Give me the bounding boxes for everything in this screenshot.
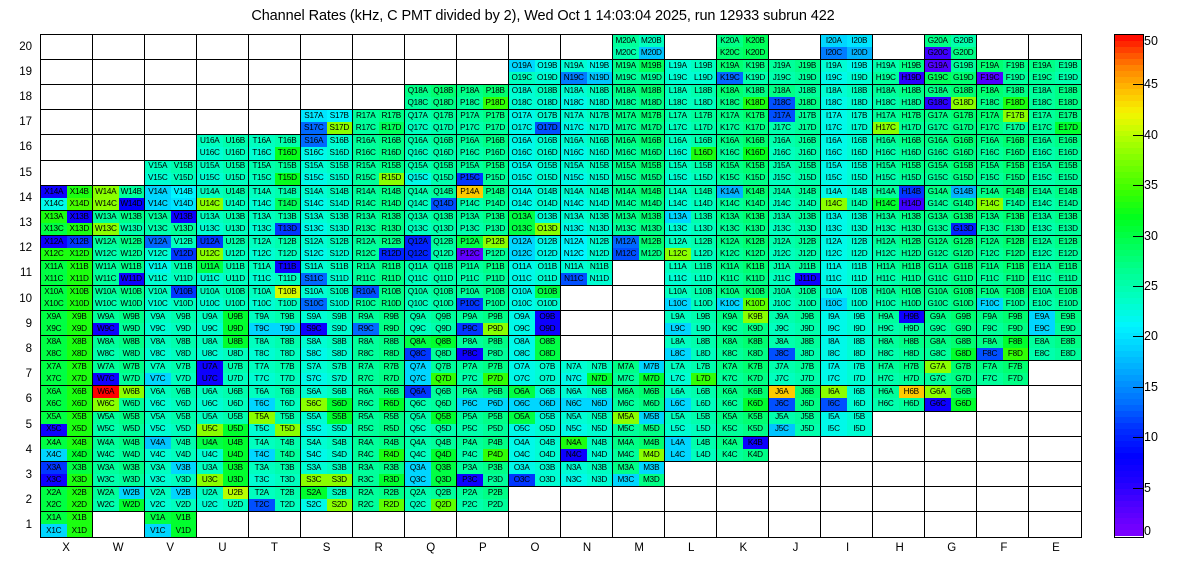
channel-R11D[interactable]: R11D <box>379 273 405 285</box>
heatmap-cell[interactable]: I16AI16BI16CI16D <box>821 135 873 160</box>
channel-O16C[interactable]: O16C <box>509 147 535 159</box>
channel-V6D[interactable]: V6D <box>171 398 197 410</box>
heatmap-cell[interactable]: J5AJ5BJ5CJ5D <box>769 412 821 437</box>
channel-J14D[interactable]: J14D <box>795 198 821 210</box>
heatmap-cell[interactable]: V11AV11BV11CV11D <box>145 261 197 286</box>
channel-N18B[interactable]: N18B <box>587 85 613 97</box>
channel-O9B[interactable]: O9B <box>535 311 561 323</box>
channel-M18D[interactable]: M18D <box>639 97 665 109</box>
heatmap-cell[interactable]: H13AH13BH13CH13D <box>873 211 925 236</box>
heatmap-cell[interactable]: Q10AQ10BQ10CQ10D <box>405 286 457 311</box>
channel-X10D[interactable]: X10D <box>67 298 93 310</box>
channel-M6C[interactable]: M6C <box>613 398 639 410</box>
channel-L14C[interactable]: L14C <box>665 198 691 210</box>
channel-H10C[interactable]: H10C <box>873 298 899 310</box>
channel-J9B[interactable]: J9B <box>795 311 821 323</box>
channel-W9A[interactable]: W9A <box>93 311 119 323</box>
channel-E19B[interactable]: E19B <box>1055 60 1081 72</box>
channel-R5B[interactable]: R5B <box>379 412 405 424</box>
channel-G8C[interactable]: G8C <box>925 348 951 360</box>
heatmap-cell[interactable]: Q18AQ18BQ18CQ18D <box>405 85 457 110</box>
heatmap-cell[interactable]: R16AR16BR16CR16D <box>353 135 405 160</box>
channel-Q17D[interactable]: Q17D <box>431 122 457 134</box>
channel-Q10B[interactable]: Q10B <box>431 286 457 298</box>
channel-F18C[interactable]: F18C <box>977 97 1003 109</box>
channel-R7C[interactable]: R7C <box>353 373 379 385</box>
channel-F13C[interactable]: F13C <box>977 223 1003 235</box>
channel-Q9D[interactable]: Q9D <box>431 323 457 335</box>
channel-T16A[interactable]: T16A <box>249 135 275 147</box>
channel-W14B[interactable]: W14B <box>119 186 145 198</box>
channel-R10C[interactable]: R10C <box>353 298 379 310</box>
channel-S5B[interactable]: S5B <box>327 412 353 424</box>
channel-H6D[interactable]: H6D <box>899 398 925 410</box>
channel-Q12C[interactable]: Q12C <box>405 248 431 260</box>
channel-R17D[interactable]: R17D <box>379 122 405 134</box>
heatmap-cell[interactable]: F18AF18BF18CF18D <box>977 85 1029 110</box>
heatmap-cell[interactable]: J11AJ11BJ11CJ11D <box>769 261 821 286</box>
heatmap-cell[interactable]: P12AP12BP12CP12D <box>457 236 509 261</box>
channel-S5C[interactable]: S5C <box>301 424 327 436</box>
heatmap-cell[interactable]: I6AI6BI6CI6D <box>821 386 873 411</box>
channel-T13D[interactable]: T13D <box>275 223 301 235</box>
channel-R10B[interactable]: R10B <box>379 286 405 298</box>
channel-Q12B[interactable]: Q12B <box>431 236 457 248</box>
channel-J12D[interactable]: J12D <box>795 248 821 260</box>
channel-G6C[interactable]: G6C <box>925 398 951 410</box>
channel-L4C[interactable]: L4C <box>665 449 691 461</box>
channel-H11C[interactable]: H11C <box>873 273 899 285</box>
channel-Q7C[interactable]: Q7C <box>405 373 431 385</box>
channel-S17D[interactable]: S17D <box>327 122 353 134</box>
channel-K16B[interactable]: K16B <box>743 135 769 147</box>
channel-F17D[interactable]: F17D <box>1003 122 1029 134</box>
channel-J15A[interactable]: J15A <box>769 161 795 173</box>
channel-W14D[interactable]: W14D <box>119 198 145 210</box>
channel-O12A[interactable]: O12A <box>509 236 535 248</box>
channel-P9B[interactable]: P9B <box>483 311 509 323</box>
heatmap-cell[interactable]: J9AJ9BJ9CJ9D <box>769 311 821 336</box>
channel-Q14A[interactable]: Q14A <box>405 186 431 198</box>
channel-Q11A[interactable]: Q11A <box>405 261 431 273</box>
channel-X6D[interactable]: X6D <box>67 398 93 410</box>
channel-U11C[interactable]: U11C <box>197 273 223 285</box>
heatmap-cell[interactable]: K17AK17BK17CK17D <box>717 110 769 135</box>
channel-S6C[interactable]: S6C <box>301 398 327 410</box>
heatmap-cell[interactable]: G13AG13BG13CG13D <box>925 211 977 236</box>
channel-T16B[interactable]: T16B <box>275 135 301 147</box>
channel-H19C[interactable]: H19C <box>873 72 899 84</box>
channel-O7D[interactable]: O7D <box>535 373 561 385</box>
channel-H6B[interactable]: H6B <box>899 386 925 398</box>
channel-T4C[interactable]: T4C <box>249 449 275 461</box>
channel-J6B[interactable]: J6B <box>795 386 821 398</box>
channel-L4A[interactable]: L4A <box>665 437 691 449</box>
channel-V11D[interactable]: V11D <box>171 273 197 285</box>
heatmap-cell[interactable]: M6AM6BM6CM6D <box>613 386 665 411</box>
channel-R4B[interactable]: R4B <box>379 437 405 449</box>
channel-J6A[interactable]: J6A <box>769 386 795 398</box>
channel-O14A[interactable]: O14A <box>509 186 535 198</box>
heatmap-cell[interactable]: R6AR6BR6CR6D <box>353 386 405 411</box>
channel-P14A[interactable]: P14A <box>457 186 483 198</box>
channel-L6A[interactable]: L6A <box>665 386 691 398</box>
heatmap-cell[interactable]: Q13AQ13BQ13CQ13D <box>405 211 457 236</box>
channel-N14C[interactable]: N14C <box>561 198 587 210</box>
heatmap-cell[interactable]: V4AV4BV4CV4D <box>145 437 197 462</box>
channel-F17C[interactable]: F17C <box>977 122 1003 134</box>
channel-K9A[interactable]: K9A <box>717 311 743 323</box>
channel-F9D[interactable]: F9D <box>1003 323 1029 335</box>
channel-P12D[interactable]: P12D <box>483 248 509 260</box>
heatmap-cell[interactable]: H18AH18BH18CH18D <box>873 85 925 110</box>
channel-E8B[interactable]: E8B <box>1055 336 1081 348</box>
channel-S6D[interactable]: S6D <box>327 398 353 410</box>
heatmap-cell[interactable]: P5AP5BP5CP5D <box>457 412 509 437</box>
channel-K10B[interactable]: K10B <box>743 286 769 298</box>
channel-G6D[interactable]: G6D <box>951 398 977 410</box>
channel-S14C[interactable]: S14C <box>301 198 327 210</box>
channel-K16C[interactable]: K16C <box>717 147 743 159</box>
heatmap-cell[interactable]: W6AW6BW6CW6D <box>93 386 145 411</box>
channel-X11D[interactable]: X11D <box>67 273 93 285</box>
heatmap-cell[interactable]: J12AJ12BJ12CJ12D <box>769 236 821 261</box>
heatmap-cell[interactable]: N19AN19BN19CN19D <box>561 60 613 85</box>
channel-E19C[interactable]: E19C <box>1029 72 1055 84</box>
channel-L7D[interactable]: L7D <box>691 373 717 385</box>
channel-I19A[interactable]: I19A <box>821 60 847 72</box>
heatmap-cell[interactable]: U16AU16BU16CU16D <box>197 135 249 160</box>
heatmap-cell[interactable]: W10AW10BW10CW10D <box>93 286 145 311</box>
heatmap-cell[interactable]: F12AF12BF12CF12D <box>977 236 1029 261</box>
channel-J10B[interactable]: J10B <box>795 286 821 298</box>
channel-G11C[interactable]: G11C <box>925 273 951 285</box>
channel-K6D[interactable]: K6D <box>743 398 769 410</box>
channel-E14D[interactable]: E14D <box>1055 198 1081 210</box>
channel-G16A[interactable]: G16A <box>925 135 951 147</box>
channel-U3B[interactable]: U3B <box>223 462 249 474</box>
heatmap-cell[interactable]: J17AJ17BJ17CJ17D <box>769 110 821 135</box>
channel-F16B[interactable]: F16B <box>1003 135 1029 147</box>
heatmap-cell[interactable]: K11AK11BK11CK11D <box>717 261 769 286</box>
channel-O13D[interactable]: O13D <box>535 223 561 235</box>
channel-N6D[interactable]: N6D <box>587 398 613 410</box>
channel-R6C[interactable]: R6C <box>353 398 379 410</box>
channel-I14D[interactable]: I14D <box>847 198 873 210</box>
channel-F12D[interactable]: F12D <box>1003 248 1029 260</box>
channel-H14C[interactable]: H14C <box>873 198 899 210</box>
heatmap-cell[interactable]: Q12AQ12BQ12CQ12D <box>405 236 457 261</box>
heatmap-cell[interactable]: U10AU10BU10CU10D <box>197 286 249 311</box>
heatmap-cell[interactable]: X10AX10BX10CX10D <box>41 286 93 311</box>
channel-N17A[interactable]: N17A <box>561 110 587 122</box>
heatmap-cell[interactable]: K5AK5BK5CK5D <box>717 412 769 437</box>
heatmap-cell[interactable]: L9AL9BL9CL9D <box>665 311 717 336</box>
channel-O16A[interactable]: O16A <box>509 135 535 147</box>
channel-R11B[interactable]: R11B <box>379 261 405 273</box>
channel-Q8A[interactable]: Q8A <box>405 336 431 348</box>
channel-J11B[interactable]: J11B <box>795 261 821 273</box>
channel-I5A[interactable]: I5A <box>821 412 847 424</box>
channel-S7C[interactable]: S7C <box>301 373 327 385</box>
channel-T14B[interactable]: T14B <box>275 186 301 198</box>
channel-N11D[interactable]: N11D <box>587 273 613 285</box>
channel-P12C[interactable]: P12C <box>457 248 483 260</box>
heatmap-cell[interactable]: G18AG18BG18CG18D <box>925 85 977 110</box>
channel-P3A[interactable]: P3A <box>457 462 483 474</box>
channel-S16D[interactable]: S16D <box>327 147 353 159</box>
channel-U9D[interactable]: U9D <box>223 323 249 335</box>
channel-N16A[interactable]: N16A <box>561 135 587 147</box>
channel-G8A[interactable]: G8A <box>925 336 951 348</box>
channel-I13A[interactable]: I13A <box>821 211 847 223</box>
heatmap-cell[interactable]: E15AE15BE15CE15D <box>1029 161 1081 186</box>
heatmap-cell[interactable]: G11AG11BG11CG11D <box>925 261 977 286</box>
channel-R15B[interactable]: R15B <box>379 161 405 173</box>
channel-R17C[interactable]: R17C <box>353 122 379 134</box>
channel-G16C[interactable]: G16C <box>925 147 951 159</box>
channel-S10D[interactable]: S10D <box>327 298 353 310</box>
channel-X1C[interactable]: X1C <box>41 524 67 537</box>
channel-V8A[interactable]: V8A <box>145 336 171 348</box>
channel-K7B[interactable]: K7B <box>743 361 769 373</box>
heatmap-cell[interactable]: I7AI7BI7CI7D <box>821 361 873 386</box>
channel-L8B[interactable]: L8B <box>691 336 717 348</box>
channel-I19B[interactable]: I19B <box>847 60 873 72</box>
channel-P7B[interactable]: P7B <box>483 361 509 373</box>
heatmap-cell[interactable]: K7AK7BK7CK7D <box>717 361 769 386</box>
channel-I12C[interactable]: I12C <box>821 248 847 260</box>
heatmap-cell[interactable]: I8AI8BI8CI8D <box>821 336 873 361</box>
heatmap-cell[interactable]: H7AH7BH7CH7D <box>873 361 925 386</box>
heatmap-cell[interactable]: P16AP16BP16CP16D <box>457 135 509 160</box>
channel-X6B[interactable]: X6B <box>67 386 93 398</box>
channel-U11D[interactable]: U11D <box>223 273 249 285</box>
channel-P15B[interactable]: P15B <box>483 161 509 173</box>
channel-V11B[interactable]: V11B <box>171 261 197 273</box>
channel-K14D[interactable]: K14D <box>743 198 769 210</box>
channel-F16D[interactable]: F16D <box>1003 147 1029 159</box>
heatmap-cell[interactable]: X11AX11BX11CX11D <box>41 261 93 286</box>
channel-E15D[interactable]: E15D <box>1055 173 1081 185</box>
heatmap-cell[interactable]: V13AV13BV13CV13D <box>145 211 197 236</box>
channel-P14C[interactable]: P14C <box>457 198 483 210</box>
channel-X4B[interactable]: X4B <box>67 437 93 449</box>
channel-U7A[interactable]: U7A <box>197 361 223 373</box>
channel-R3B[interactable]: R3B <box>379 462 405 474</box>
heatmap-cell[interactable]: R15AR15BR15CR15D <box>353 161 405 186</box>
channel-R16C[interactable]: R16C <box>353 147 379 159</box>
channel-V5A[interactable]: V5A <box>145 412 171 424</box>
heatmap-cell[interactable]: L12AL12BL12CL12D <box>665 236 717 261</box>
channel-P16B[interactable]: P16B <box>483 135 509 147</box>
channel-S3A[interactable]: S3A <box>301 462 327 474</box>
channel-Q16C[interactable]: Q16C <box>405 147 431 159</box>
channel-L18D[interactable]: L18D <box>691 97 717 109</box>
channel-R13C[interactable]: R13C <box>353 223 379 235</box>
channel-O11D[interactable]: O11D <box>535 273 561 285</box>
channel-L10C[interactable]: L10C <box>665 298 691 310</box>
channel-G6B[interactable]: G6B <box>951 386 977 398</box>
channel-P5B[interactable]: P5B <box>483 412 509 424</box>
channel-F8A[interactable]: F8A <box>977 336 1003 348</box>
channel-G12A[interactable]: G12A <box>925 236 951 248</box>
channel-J17B[interactable]: J17B <box>795 110 821 122</box>
channel-K7A[interactable]: K7A <box>717 361 743 373</box>
channel-R17B[interactable]: R17B <box>379 110 405 122</box>
channel-T4D[interactable]: T4D <box>275 449 301 461</box>
heatmap-cell[interactable]: S3AS3BS3CS3D <box>301 462 353 487</box>
channel-S11B[interactable]: S11B <box>327 261 353 273</box>
heatmap-cell[interactable]: P8AP8BP8CP8D <box>457 336 509 361</box>
channel-F19A[interactable]: F19A <box>977 60 1003 72</box>
channel-V6B[interactable]: V6B <box>171 386 197 398</box>
channel-E8A[interactable]: E8A <box>1029 336 1055 348</box>
channel-I8A[interactable]: I8A <box>821 336 847 348</box>
channel-Q12D[interactable]: Q12D <box>431 248 457 260</box>
channel-P11B[interactable]: P11B <box>483 261 509 273</box>
channel-S7A[interactable]: S7A <box>301 361 327 373</box>
channel-G10D[interactable]: G10D <box>951 298 977 310</box>
heatmap-cell[interactable]: M16AM16BM16CM16D <box>613 135 665 160</box>
channel-I13C[interactable]: I13C <box>821 223 847 235</box>
channel-I17B[interactable]: I17B <box>847 110 873 122</box>
channel-L19B[interactable]: L19B <box>691 60 717 72</box>
channel-O18A[interactable]: O18A <box>509 85 535 97</box>
channel-T9D[interactable]: T9D <box>275 323 301 335</box>
heatmap-cell[interactable]: P11AP11BP11CP11D <box>457 261 509 286</box>
channel-J5D[interactable]: J5D <box>795 424 821 436</box>
channel-X13D[interactable]: X13D <box>67 223 93 235</box>
heatmap-cell[interactable]: O10AO10BO10CO10D <box>509 286 561 311</box>
channel-Q3A[interactable]: Q3A <box>405 462 431 474</box>
heatmap-cell[interactable]: M5AM5BM5CM5D <box>613 412 665 437</box>
channel-G19B[interactable]: G19B <box>951 60 977 72</box>
channel-M18B[interactable]: M18B <box>639 85 665 97</box>
channel-O6B[interactable]: O6B <box>535 386 561 398</box>
channel-H16D[interactable]: H16D <box>899 147 925 159</box>
channel-U8B[interactable]: U8B <box>223 336 249 348</box>
channel-G12B[interactable]: G12B <box>951 236 977 248</box>
channel-N18A[interactable]: N18A <box>561 85 587 97</box>
heatmap-cell[interactable]: T3AT3BT3CT3D <box>249 462 301 487</box>
channel-X11B[interactable]: X11B <box>67 261 93 273</box>
channel-J8B[interactable]: J8B <box>795 336 821 348</box>
channel-S10B[interactable]: S10B <box>327 286 353 298</box>
channel-M13C[interactable]: M13C <box>613 223 639 235</box>
channel-S10C[interactable]: S10C <box>301 298 327 310</box>
channel-O7B[interactable]: O7B <box>535 361 561 373</box>
channel-H19D[interactable]: H19D <box>899 72 925 84</box>
heatmap-cell[interactable]: Q17AQ17BQ17CQ17D <box>405 110 457 135</box>
channel-T15C[interactable]: T15C <box>249 173 275 185</box>
heatmap-cell[interactable]: M3AM3BM3CM3D <box>613 462 665 487</box>
channel-E17A[interactable]: E17A <box>1029 110 1055 122</box>
channel-P6C[interactable]: P6C <box>457 398 483 410</box>
channel-L13A[interactable]: L13A <box>665 211 691 223</box>
heatmap-cell[interactable]: F13AF13BF13CF13D <box>977 211 1029 236</box>
heatmap-cell[interactable]: W3AW3BW3CW3D <box>93 462 145 487</box>
channel-F18A[interactable]: F18A <box>977 85 1003 97</box>
channel-V9D[interactable]: V9D <box>171 323 197 335</box>
channel-H15C[interactable]: H15C <box>873 173 899 185</box>
channel-L14A[interactable]: L14A <box>665 186 691 198</box>
channel-T13A[interactable]: T13A <box>249 211 275 223</box>
channel-N17D[interactable]: N17D <box>587 122 613 134</box>
heatmap-cell[interactable]: U9AU9BU9CU9D <box>197 311 249 336</box>
channel-R13B[interactable]: R13B <box>379 211 405 223</box>
channel-F7C[interactable]: F7C <box>977 373 1003 385</box>
channel-F10B[interactable]: F10B <box>1003 286 1029 298</box>
channel-F14C[interactable]: F14C <box>977 198 1003 210</box>
channel-W4B[interactable]: W4B <box>119 437 145 449</box>
heatmap-cell[interactable]: R4AR4BR4CR4D <box>353 437 405 462</box>
channel-M6A[interactable]: M6A <box>613 386 639 398</box>
channel-L16D[interactable]: L16D <box>691 147 717 159</box>
channel-Q2C[interactable]: Q2C <box>405 499 431 511</box>
channel-T3D[interactable]: T3D <box>275 474 301 486</box>
channel-T11C[interactable]: T11C <box>249 273 275 285</box>
channel-V14B[interactable]: V14B <box>171 186 197 198</box>
channel-E8D[interactable]: E8D <box>1055 348 1081 360</box>
heatmap-cell[interactable]: V6AV6BV6CV6D <box>145 386 197 411</box>
channel-N7C[interactable]: N7C <box>561 373 587 385</box>
channel-T12D[interactable]: T12D <box>275 248 301 260</box>
channel-E9A[interactable]: E9A <box>1029 311 1055 323</box>
heatmap-cell[interactable]: U15AU15BU15CU15D <box>197 161 249 186</box>
channel-J18D[interactable]: J18D <box>795 97 821 109</box>
heatmap-cell[interactable]: M14AM14BM14CM14D <box>613 186 665 211</box>
channel-T15D[interactable]: T15D <box>275 173 301 185</box>
heatmap-cell[interactable]: N4AN4BN4CN4D <box>561 437 613 462</box>
channel-V14D[interactable]: V14D <box>171 198 197 210</box>
channel-K9C[interactable]: K9C <box>717 323 743 335</box>
channel-K11D[interactable]: K11D <box>743 273 769 285</box>
channel-W3B[interactable]: W3B <box>119 462 145 474</box>
channel-S8B[interactable]: S8B <box>327 336 353 348</box>
channel-X12A[interactable]: X12A <box>41 236 67 248</box>
channel-U5A[interactable]: U5A <box>197 412 223 424</box>
channel-L8D[interactable]: L8D <box>691 348 717 360</box>
channel-M12A[interactable]: M12A <box>613 236 639 248</box>
channel-N4C[interactable]: N4C <box>561 449 587 461</box>
channel-U14A[interactable]: U14A <box>197 186 223 198</box>
channel-I16B[interactable]: I16B <box>847 135 873 147</box>
channel-Q10C[interactable]: Q10C <box>405 298 431 310</box>
channel-I18B[interactable]: I18B <box>847 85 873 97</box>
channel-O12C[interactable]: O12C <box>509 248 535 260</box>
heatmap-cell[interactable]: I9AI9BI9CI9D <box>821 311 873 336</box>
heatmap-cell[interactable]: X4AX4BX4CX4D <box>41 437 93 462</box>
heatmap-cell[interactable]: U7AU7BU7CU7D <box>197 361 249 386</box>
channel-L15C[interactable]: L15C <box>665 173 691 185</box>
channel-S11D[interactable]: S11D <box>327 273 353 285</box>
channel-X13A[interactable]: X13A <box>41 211 67 223</box>
channel-J8C[interactable]: J8C <box>769 348 795 360</box>
channel-K20C[interactable]: K20C <box>717 47 743 59</box>
channel-J5C[interactable]: J5C <box>769 424 795 436</box>
channel-E9C[interactable]: E9C <box>1029 323 1055 335</box>
channel-W7D[interactable]: W7D <box>119 373 145 385</box>
channel-I10D[interactable]: I10D <box>847 298 873 310</box>
heatmap-cell[interactable]: L5AL5BL5CL5D <box>665 412 717 437</box>
channel-I9C[interactable]: I9C <box>821 323 847 335</box>
channel-Q8D[interactable]: Q8D <box>431 348 457 360</box>
heatmap-cell[interactable]: W14AW14BW14CW14D <box>93 186 145 211</box>
heatmap-cell[interactable]: V8AV8BV8CV8D <box>145 336 197 361</box>
channel-L9C[interactable]: L9C <box>665 323 691 335</box>
channel-X2A[interactable]: X2A <box>41 487 67 499</box>
